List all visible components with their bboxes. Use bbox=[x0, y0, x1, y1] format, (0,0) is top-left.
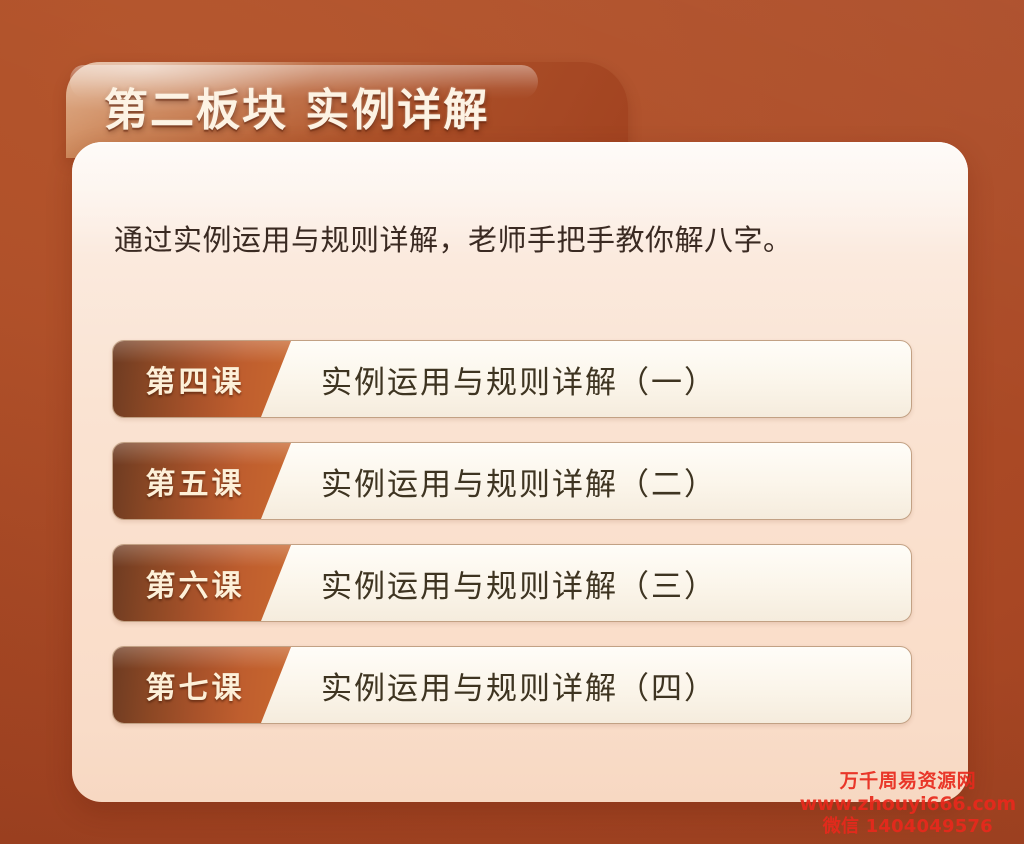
lesson-list: 第四课 实例运用与规则详解（一） 第五课 实例运用与规则详解（二） 第六课 实例… bbox=[112, 340, 912, 748]
lesson-row[interactable]: 第五课 实例运用与规则详解（二） bbox=[112, 442, 912, 520]
lesson-badge-label: 第五课 bbox=[146, 459, 259, 503]
lesson-row[interactable]: 第四课 实例运用与规则详解（一） bbox=[112, 340, 912, 418]
lesson-badge: 第五课 bbox=[113, 443, 291, 519]
lesson-title: 实例运用与规则详解（二） bbox=[291, 443, 911, 519]
slide-canvas: 第二板块 实例详解 通过实例运用与规则详解，老师手把手教你解八字。 第四课 实例… bbox=[0, 0, 1024, 844]
lesson-badge: 第四课 bbox=[113, 341, 291, 417]
lesson-row[interactable]: 第七课 实例运用与规则详解（四） bbox=[112, 646, 912, 724]
lesson-title: 实例运用与规则详解（三） bbox=[291, 545, 911, 621]
lesson-title: 实例运用与规则详解（四） bbox=[291, 647, 911, 723]
watermark-wechat: 微信 1404049576 bbox=[800, 816, 1016, 838]
lesson-badge-label: 第六课 bbox=[146, 561, 259, 605]
section-description: 通过实例运用与规则详解，老师手把手教你解八字。 bbox=[114, 220, 938, 260]
lesson-badge: 第七课 bbox=[113, 647, 291, 723]
lesson-row[interactable]: 第六课 实例运用与规则详解（三） bbox=[112, 544, 912, 622]
section-tab-title: 第二板块 实例详解 bbox=[104, 84, 489, 138]
lesson-title: 实例运用与规则详解（一） bbox=[291, 341, 911, 417]
lesson-badge-label: 第七课 bbox=[146, 663, 259, 707]
lesson-badge: 第六课 bbox=[113, 545, 291, 621]
content-panel: 通过实例运用与规则详解，老师手把手教你解八字。 第四课 实例运用与规则详解（一）… bbox=[72, 142, 968, 802]
lesson-badge-label: 第四课 bbox=[146, 357, 259, 401]
